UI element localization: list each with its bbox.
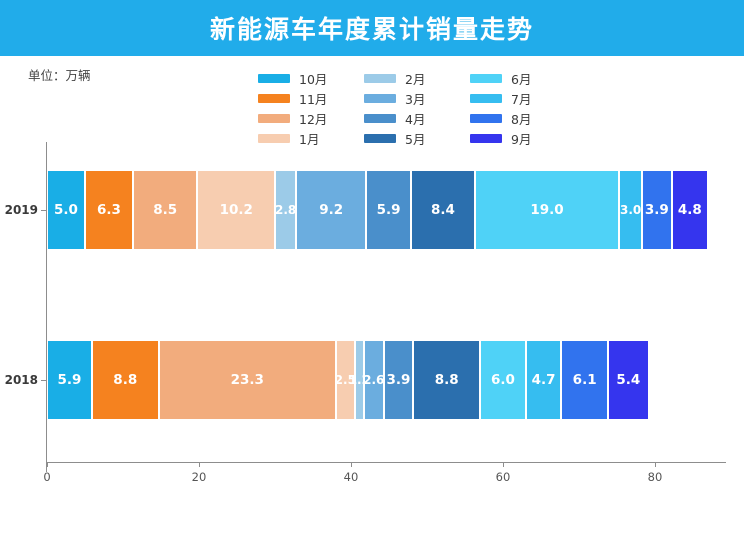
bar-segment-value: 2.8 <box>275 203 296 217</box>
unit-note: 单位：万辆 <box>28 65 91 84</box>
bar-segment-value: 23.3 <box>231 372 264 388</box>
page-title: 新能源车年度累计销量走势 <box>210 10 534 46</box>
bar-segment[interactable]: 3.9 <box>642 170 672 250</box>
bar-segment-value: 3.0 <box>620 203 641 217</box>
x-axis-tick-label: 20 <box>192 470 207 484</box>
bar-segment-value: 8.8 <box>435 372 459 388</box>
bar-segment-value: 5.0 <box>54 202 78 218</box>
legend-item-label: 4月 <box>405 109 425 128</box>
bar-segment[interactable]: 2.6 <box>364 340 384 420</box>
y-axis-tick-label: 2018 <box>5 373 38 387</box>
bar-segment-value: 10.2 <box>220 202 253 218</box>
bar-segment-value: 5.9 <box>377 202 401 218</box>
legend-swatch-icon <box>470 94 502 103</box>
legend-item[interactable]: 7月 <box>470 88 568 108</box>
legend-item[interactable]: 4月 <box>364 108 462 128</box>
legend-swatch-icon <box>364 74 396 83</box>
legend-item[interactable]: 8月 <box>470 108 568 128</box>
bar-segment-value: 19.0 <box>530 202 563 218</box>
x-axis-tick-label: 80 <box>648 470 663 484</box>
bar-segment-value: 4.7 <box>532 372 556 388</box>
bar-segment-value: 3.9 <box>386 372 410 388</box>
legend-swatch-icon <box>364 114 396 123</box>
legend-item[interactable]: 12月 <box>258 108 356 128</box>
bar-segment-value: 8.4 <box>431 202 455 218</box>
legend-item[interactable]: 3月 <box>364 88 462 108</box>
bar-segment[interactable]: 8.8 <box>413 340 480 420</box>
legend-item-label: 7月 <box>511 89 531 108</box>
legend-item[interactable]: 2月 <box>364 68 462 88</box>
bar-segment[interactable]: 9.2 <box>296 170 366 250</box>
bar-segment[interactable]: 23.3 <box>159 340 336 420</box>
bar-segment-value: 8.8 <box>113 372 137 388</box>
bar-segment[interactable]: 5.9 <box>47 340 92 420</box>
legend-item-label: 8月 <box>511 109 531 128</box>
legend-item-label: 6月 <box>511 69 531 88</box>
bar-segment-value: 9.2 <box>319 202 343 218</box>
bar-segment-value: 2.6 <box>363 373 384 387</box>
legend-item-label: 2月 <box>405 69 425 88</box>
x-axis-tick <box>199 462 200 467</box>
legend-item-label: 10月 <box>299 69 327 88</box>
bar-segment[interactable]: 10.2 <box>197 170 275 250</box>
legend-swatch-icon <box>258 94 290 103</box>
legend-swatch-icon <box>470 74 502 83</box>
y-axis-tick <box>41 210 46 211</box>
bar-segment-value: 8.5 <box>153 202 177 218</box>
bar-segment[interactable]: 6.3 <box>85 170 133 250</box>
legend-item-label: 12月 <box>299 109 327 128</box>
bar-segment-value: 5.9 <box>57 372 81 388</box>
bar-row: 5.98.823.32.51.22.63.98.86.04.76.15.4 <box>47 340 649 420</box>
bar-segment[interactable]: 8.5 <box>133 170 198 250</box>
bar-segment-value: 6.1 <box>573 372 597 388</box>
bar-segment[interactable]: 8.8 <box>92 340 159 420</box>
legend-item-label: 11月 <box>299 89 327 108</box>
bar-segment[interactable]: 3.0 <box>619 170 642 250</box>
chart-plot-area: 020406080 20192018 5.06.38.510.22.89.25.… <box>0 130 744 530</box>
bar-segment-value: 4.8 <box>678 202 702 218</box>
chart-title-bar: 新能源车年度累计销量走势 <box>0 0 744 56</box>
bar-segment[interactable]: 1.2 <box>355 340 364 420</box>
bar-segment[interactable]: 4.7 <box>526 340 562 420</box>
x-axis-tick-label: 40 <box>344 470 359 484</box>
y-axis-tick <box>41 380 46 381</box>
legend-swatch-icon <box>470 114 502 123</box>
bar-segment[interactable]: 5.4 <box>608 340 649 420</box>
x-axis-tick-label: 60 <box>496 470 511 484</box>
bar-segment-value: 5.4 <box>616 372 640 388</box>
legend-item[interactable]: 11月 <box>258 88 356 108</box>
bar-segment[interactable]: 2.8 <box>275 170 296 250</box>
legend-swatch-icon <box>364 94 396 103</box>
bar-segment-value: 6.3 <box>97 202 121 218</box>
legend-item[interactable]: 10月 <box>258 68 356 88</box>
bar-segment[interactable]: 6.0 <box>480 340 526 420</box>
bar-segment[interactable]: 3.9 <box>384 340 414 420</box>
bar-segment-value: 3.9 <box>645 202 669 218</box>
bar-segment[interactable]: 19.0 <box>475 170 619 250</box>
x-axis-tick <box>655 462 656 467</box>
legend-item[interactable]: 6月 <box>470 68 568 88</box>
legend-item-label: 3月 <box>405 89 425 108</box>
bar-segment[interactable]: 6.1 <box>561 340 607 420</box>
y-axis-tick-label: 2019 <box>5 203 38 217</box>
x-axis-tick <box>503 462 504 467</box>
x-axis-tick-label: 0 <box>43 470 50 484</box>
legend-swatch-icon <box>258 74 290 83</box>
x-axis-line <box>46 462 726 463</box>
bar-segment-value: 6.0 <box>491 372 515 388</box>
bar-segment[interactable]: 4.8 <box>672 170 708 250</box>
bar-segment[interactable]: 5.9 <box>366 170 411 250</box>
bar-segment-value: 2.5 <box>335 373 356 387</box>
bar-segment[interactable]: 8.4 <box>411 170 475 250</box>
x-axis-tick <box>351 462 352 467</box>
legend-swatch-icon <box>258 114 290 123</box>
bar-row: 5.06.38.510.22.89.25.98.419.03.03.94.8 <box>47 170 708 250</box>
bar-segment[interactable]: 5.0 <box>47 170 85 250</box>
x-axis-tick <box>47 462 48 467</box>
bar-segment[interactable]: 2.5 <box>336 340 355 420</box>
